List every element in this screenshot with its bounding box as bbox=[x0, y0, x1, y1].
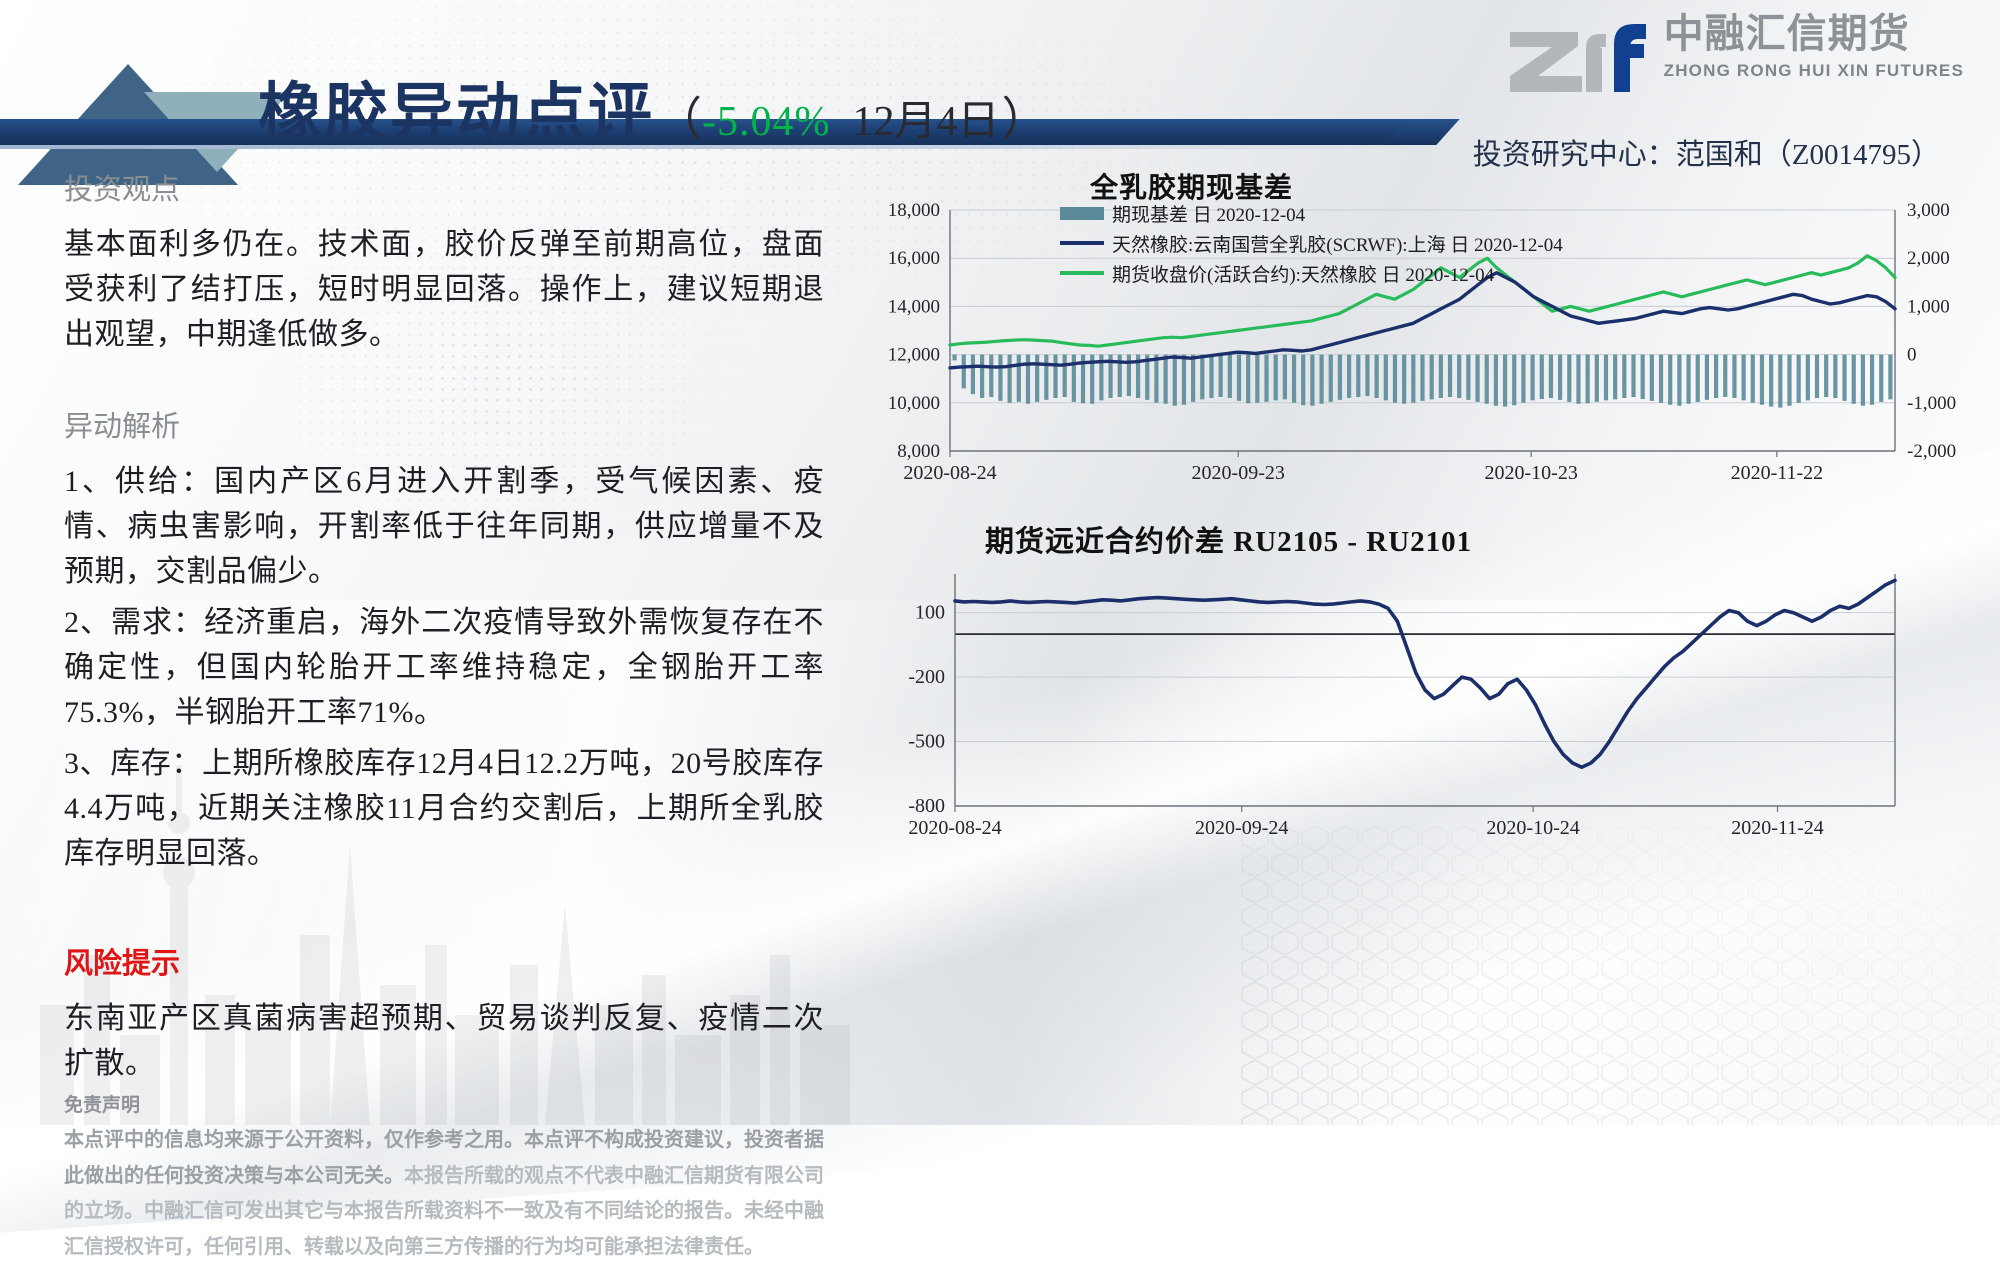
svg-text:18,000: 18,000 bbox=[888, 200, 940, 221]
title-paren-close: ） bbox=[1002, 83, 1048, 149]
chart1-legend-swatch-0 bbox=[1060, 207, 1104, 220]
analysis-item-demand: 2、需求：经济重启，海外二次疫情导致外需恢复存在不确定性，但国内轮胎开工率维持稳… bbox=[64, 600, 824, 735]
chart1-basis-plot: 8,00010,00012,00014,00016,00018,000-2,00… bbox=[860, 196, 1980, 506]
title-paren-open: （ bbox=[656, 83, 702, 149]
svg-text:3,000: 3,000 bbox=[1907, 200, 1950, 221]
svg-text:-200: -200 bbox=[908, 666, 945, 688]
svg-text:100: 100 bbox=[915, 602, 945, 624]
analysis-item-inventory: 3、库存：上期所橡胶库存12月4日12.2万吨，20号胶库存4.4万吨，近期关注… bbox=[64, 741, 824, 876]
risk-body: 东南亚产区真菌病害超预期、贸易谈判反复、疫情二次扩散。 bbox=[64, 996, 824, 1086]
company-logo: 中 融 汇 信 期 货 ZHONG RONG HUI XIN FUTURES bbox=[1504, 14, 1964, 100]
svg-text:8,000: 8,000 bbox=[897, 441, 940, 462]
disclaimer-body: 本点评中的信息均来源于公开资料，仅作参考之用。本点评不构成投资建议，投资者据此做… bbox=[64, 1123, 824, 1265]
chart2-canvas: -800-500-2001002020-08-242020-09-242020-… bbox=[860, 556, 1980, 856]
left-content-column: 投资观点 基本面利多仍在。技术面，胶价反弹至前期高位，盘面受获利了结打压，短时明… bbox=[64, 160, 824, 1265]
logo-cn-char-2: 汇 bbox=[1746, 14, 1785, 54]
svg-text:2020-09-24: 2020-09-24 bbox=[1195, 817, 1288, 839]
logo-cn-char-3: 信 bbox=[1787, 14, 1826, 54]
svg-text:2,000: 2,000 bbox=[1907, 248, 1950, 269]
chart1-legend-label-2: 期货收盘价(活跃合约):天然橡胶 日 2020-12-04 bbox=[1112, 260, 1494, 287]
disclaimer-heading: 免责声明 bbox=[64, 1090, 824, 1117]
svg-text:2020-09-23: 2020-09-23 bbox=[1192, 462, 1285, 484]
chart1-legend-item-0: 期现基差 日 2020-12-04 bbox=[1060, 198, 1563, 228]
svg-text:16,000: 16,000 bbox=[888, 248, 940, 269]
title-change-pct: -5.04% bbox=[702, 98, 830, 146]
chart1-legend-label-0: 期现基差 日 2020-12-04 bbox=[1112, 200, 1305, 227]
chart1-legend-item-2: 期货收盘价(活跃合约):天然橡胶 日 2020-12-04 bbox=[1060, 258, 1563, 288]
author-byline: 投资研究中心：范国和（Z0014795） bbox=[1473, 131, 1940, 173]
svg-text:10,000: 10,000 bbox=[888, 393, 940, 414]
svg-text:12,000: 12,000 bbox=[888, 345, 940, 366]
section-heading-analysis: 异动解析 bbox=[64, 403, 824, 445]
svg-text:2020-08-24: 2020-08-24 bbox=[903, 462, 996, 484]
chart1-legend-swatch-1 bbox=[1060, 241, 1104, 245]
logo-cn-char-4: 期 bbox=[1828, 14, 1867, 54]
section-heading-investment-view: 投资观点 bbox=[64, 166, 824, 208]
chart2-title: 期货远近合约价差 RU2105 - RU2101 bbox=[985, 518, 1472, 560]
honeycomb-texture bbox=[1240, 825, 2000, 1125]
title-date: 12月4日 bbox=[852, 87, 999, 148]
chart1-legend: 期现基差 日 2020-12-04天然橡胶:云南国营全乳胶(SCRWF):上海 … bbox=[1060, 198, 1563, 288]
analysis-item-supply: 1、供给：国内产区6月进入开割季，受气候因素、疫情、病虫害影响，开割率低于往年同… bbox=[64, 459, 824, 594]
svg-text:2020-08-24: 2020-08-24 bbox=[908, 817, 1001, 839]
svg-text:-1,000: -1,000 bbox=[1907, 393, 1956, 414]
svg-text:2020-11-22: 2020-11-22 bbox=[1731, 462, 1824, 484]
page-title: 橡胶异动点评 （ -5.04% 12月4日 ） bbox=[258, 62, 1048, 154]
svg-text:-800: -800 bbox=[908, 795, 945, 817]
section-heading-risk: 风险提示 bbox=[64, 940, 824, 982]
chart1-legend-label-1: 天然橡胶:云南国营全乳胶(SCRWF):上海 日 2020-12-04 bbox=[1112, 230, 1563, 257]
svg-text:2020-10-23: 2020-10-23 bbox=[1485, 462, 1578, 484]
logo-cn-char-0: 中 bbox=[1664, 14, 1703, 54]
poster-root: 橡胶异动点评 （ -5.04% 12月4日 ） 中 融 汇 信 期 货 ZHON… bbox=[0, 0, 2000, 1125]
svg-text:14,000: 14,000 bbox=[888, 296, 940, 317]
chart1-legend-item-1: 天然橡胶:云南国营全乳胶(SCRWF):上海 日 2020-12-04 bbox=[1060, 228, 1563, 258]
logo-chinese-name: 中 融 汇 信 期 货 bbox=[1664, 14, 1964, 54]
svg-text:-500: -500 bbox=[908, 731, 945, 753]
logo-english-name: ZHONG RONG HUI XIN FUTURES bbox=[1664, 61, 1964, 81]
svg-text:2020-10-24: 2020-10-24 bbox=[1486, 817, 1579, 839]
logo-cn-char-1: 融 bbox=[1705, 14, 1744, 54]
investment-view-body: 基本面利多仍在。技术面，胶价反弹至前期高位，盘面受获利了结打压，短时明显回落。操… bbox=[64, 222, 824, 357]
page-title-main: 橡胶异动点评 bbox=[258, 62, 654, 154]
svg-text:0: 0 bbox=[1907, 345, 1917, 366]
svg-text:2020-11-24: 2020-11-24 bbox=[1731, 817, 1824, 839]
chart2-spread-plot: -800-500-2001002020-08-242020-09-242020-… bbox=[860, 556, 1980, 856]
logo-cn-char-5: 货 bbox=[1869, 14, 1908, 54]
svg-text:1,000: 1,000 bbox=[1907, 296, 1950, 317]
chart1-legend-swatch-2 bbox=[1060, 271, 1104, 275]
svg-text:-2,000: -2,000 bbox=[1907, 441, 1956, 462]
zrf-mark-icon bbox=[1504, 14, 1654, 100]
